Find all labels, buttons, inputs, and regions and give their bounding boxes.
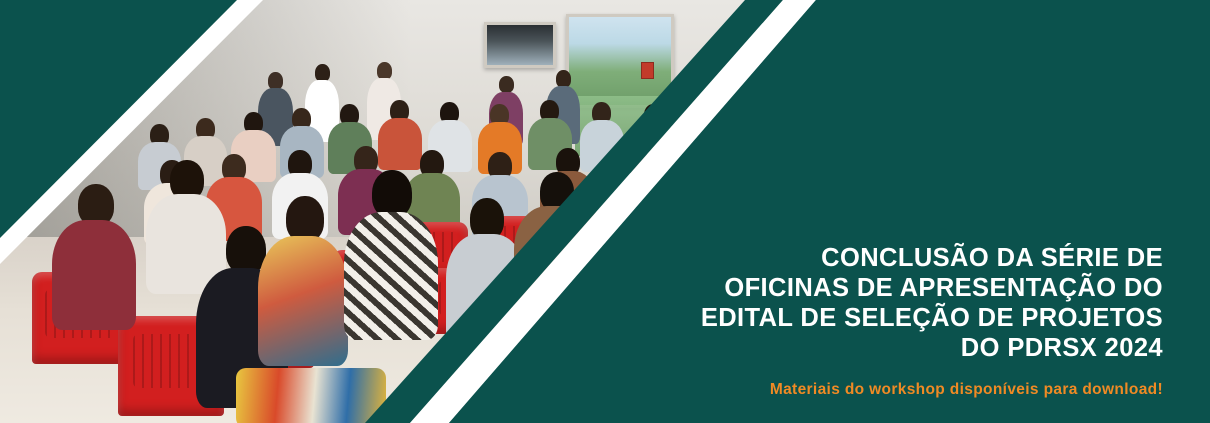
banner-text-block: CONCLUSÃO DA SÉRIE DE OFICINAS DE APRESE… — [603, 243, 1163, 399]
window-center — [566, 14, 674, 108]
headline-line-3: EDITAL DE SELEÇÃO DE PROJETOS — [603, 303, 1163, 333]
headline-line-2: OFICINAS DE APRESENTAÇÃO DO — [603, 273, 1163, 303]
headline-line-1: CONCLUSÃO DA SÉRIE DE — [603, 243, 1163, 273]
exit-sign-icon — [641, 62, 654, 79]
headline-line-4: DO PDRSX 2024 — [603, 333, 1163, 363]
event-banner: CONCLUSÃO DA SÉRIE DE OFICINAS DE APRESE… — [0, 0, 1210, 423]
banner-subheadline: Materiais do workshop disponíveis para d… — [603, 381, 1163, 399]
wall-monitor-icon — [484, 22, 556, 68]
banner-headline: CONCLUSÃO DA SÉRIE DE OFICINAS DE APRESE… — [603, 243, 1163, 363]
